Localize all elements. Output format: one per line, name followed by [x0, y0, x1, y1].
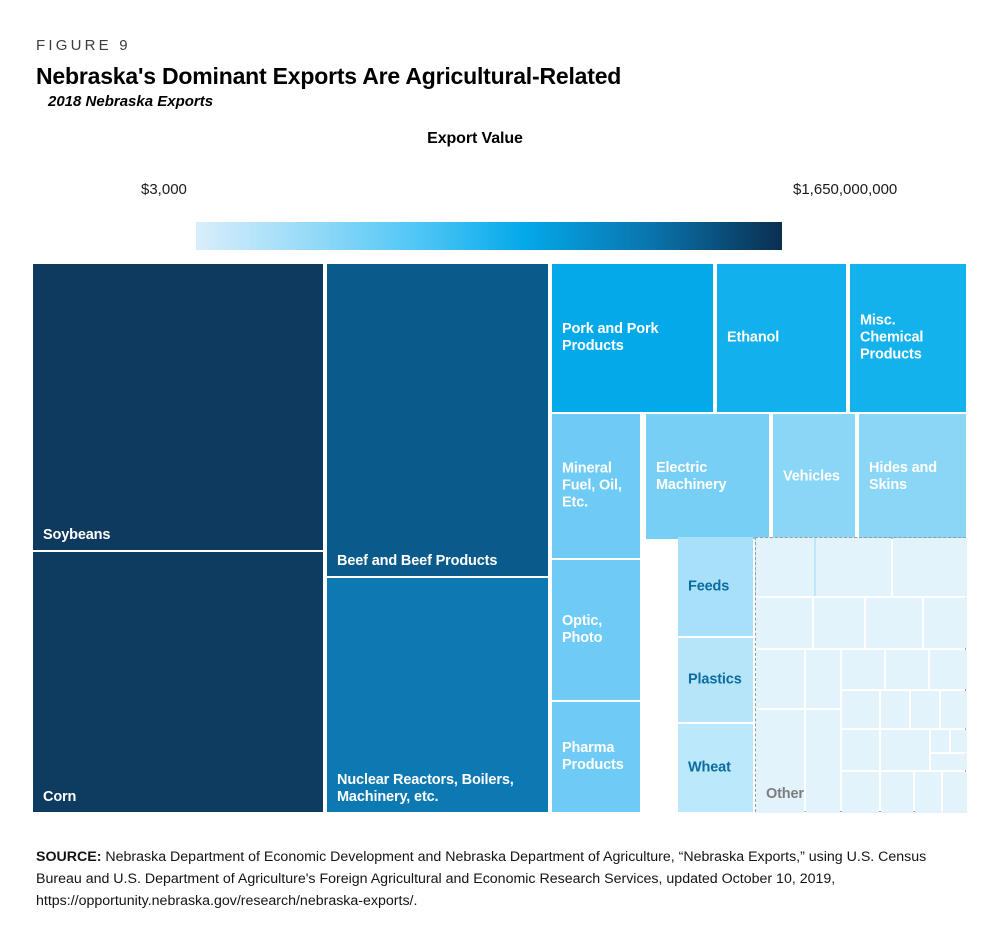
legend-min-label: $3,000	[141, 181, 187, 198]
treemap-subtile[interactable]	[911, 691, 939, 728]
tile-label: Corn	[43, 789, 76, 806]
treemap-subtile[interactable]	[931, 730, 949, 752]
tile-label: Wheat	[688, 760, 747, 777]
treemap-subtile[interactable]	[915, 772, 941, 813]
tile-label: Optic, Photo	[562, 613, 634, 647]
tile-label: Pharma Products	[562, 740, 634, 774]
treemap-tile-feeds[interactable]: Feeds	[678, 537, 753, 636]
treemap-subtile[interactable]	[866, 598, 922, 648]
tile-label: Plastics	[688, 672, 747, 689]
treemap-subtile[interactable]	[881, 730, 929, 770]
color-legend: Export Value $3,000 $1,650,000,000	[0, 130, 1000, 148]
tile-label: Soybeans	[43, 527, 110, 544]
treemap-subtile[interactable]	[806, 650, 840, 708]
legend-title: Export Value	[0, 130, 950, 148]
treemap-tile-beef[interactable]: Beef and Beef Products	[327, 264, 548, 576]
other-group-label: Other	[766, 786, 804, 803]
treemap-subtile[interactable]	[943, 772, 967, 813]
tile-label: Mineral Fuel, Oil, Etc.	[562, 461, 634, 512]
treemap-subtile[interactable]	[893, 538, 967, 596]
treemap-subtile[interactable]	[816, 538, 891, 596]
treemap-subtile[interactable]	[756, 538, 814, 596]
tile-label: Vehicles	[783, 468, 849, 485]
tile-label: Misc. Chemical Products	[860, 313, 960, 364]
legend-scale-row: $3,000 $1,650,000,000	[0, 172, 1000, 208]
treemap-tile-optic[interactable]: Optic, Photo	[552, 560, 640, 700]
tile-label: Pork and Pork Products	[562, 321, 707, 355]
treemap-subtile[interactable]	[756, 650, 804, 708]
page-title: Nebraska's Dominant Exports Are Agricult…	[36, 62, 936, 90]
treemap-subtile[interactable]	[881, 691, 909, 728]
treemap-tile-pharma[interactable]: Pharma Products	[552, 702, 640, 812]
treemap-tile-electric[interactable]: Electric Machinery	[646, 414, 769, 539]
tile-label: Beef and Beef Products	[337, 553, 497, 570]
treemap-chart: SoybeansCornBeef and Beef ProductsNuclea…	[33, 264, 966, 812]
legend-max-label: $1,650,000,000	[793, 181, 897, 198]
treemap-subtile[interactable]	[881, 772, 913, 813]
figure-header: FIGURE 9 Nebraska's Dominant Exports Are…	[36, 36, 936, 112]
treemap-tile-corn[interactable]: Corn	[33, 552, 323, 812]
treemap-subtile[interactable]	[806, 710, 840, 813]
legend-gradient-bar	[196, 222, 782, 250]
source-text: Nebraska Department of Economic Developm…	[36, 849, 926, 909]
figure-subtitle: 2018 Nebraska Exports	[48, 92, 936, 112]
treemap-group-other[interactable]: Other	[755, 537, 966, 812]
treemap-tile-hides[interactable]: Hides and Skins	[859, 414, 966, 539]
treemap-tile-wheat[interactable]: Wheat	[678, 724, 753, 812]
treemap-tile-soybeans[interactable]: Soybeans	[33, 264, 323, 550]
treemap-subtile[interactable]	[924, 598, 967, 648]
source-label: SOURCE:	[36, 849, 101, 865]
treemap-subtile[interactable]	[842, 730, 879, 770]
treemap-subtile[interactable]	[842, 772, 879, 813]
treemap-subtile[interactable]	[842, 650, 884, 689]
figure-label: FIGURE 9	[36, 36, 936, 56]
treemap-tile-vehicles[interactable]: Vehicles	[773, 414, 855, 539]
treemap-subtile[interactable]	[886, 650, 928, 689]
treemap-tile-plastics[interactable]: Plastics	[678, 638, 753, 722]
source-note: SOURCE: Nebraska Department of Economic …	[36, 846, 946, 912]
tile-label: Feeds	[688, 578, 747, 595]
treemap-subtile[interactable]	[756, 598, 812, 648]
treemap-tile-misc-chem[interactable]: Misc. Chemical Products	[850, 264, 966, 412]
treemap-subtile[interactable]	[951, 730, 967, 752]
tile-label: Nuclear Reactors, Boilers, Machinery, et…	[337, 772, 548, 806]
treemap-tile-mineral[interactable]: Mineral Fuel, Oil, Etc.	[552, 414, 640, 558]
treemap-subtile[interactable]	[931, 754, 967, 770]
tile-label: Ethanol	[727, 330, 840, 347]
treemap-subtile[interactable]	[941, 691, 967, 728]
tile-label: Electric Machinery	[656, 460, 763, 494]
treemap-subtile[interactable]	[814, 598, 864, 648]
treemap-subtile[interactable]	[842, 691, 879, 728]
treemap-tile-ethanol[interactable]: Ethanol	[717, 264, 846, 412]
treemap-tile-nuclear[interactable]: Nuclear Reactors, Boilers, Machinery, et…	[327, 578, 548, 812]
treemap-tile-pork[interactable]: Pork and Pork Products	[552, 264, 713, 412]
treemap-subtile[interactable]	[930, 650, 967, 689]
tile-label: Hides and Skins	[869, 460, 960, 494]
